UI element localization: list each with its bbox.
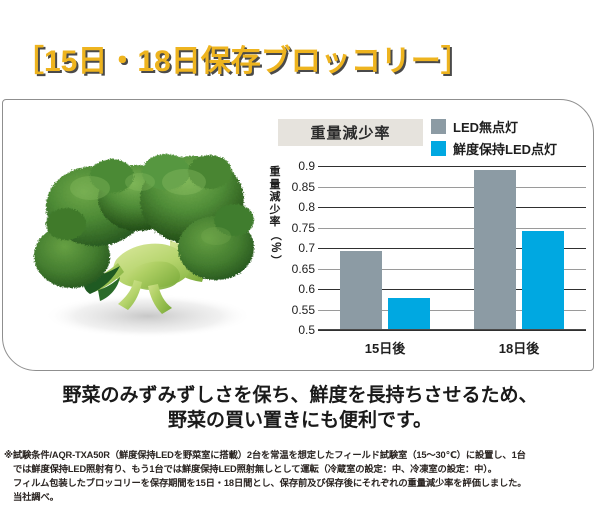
y-tick-label: 0.7 (298, 241, 315, 255)
chart-title: 重量減少率 (278, 119, 423, 146)
y-axis-title-char: 率 (268, 216, 282, 229)
bar-LED無点灯-15日後 (340, 251, 382, 329)
x-axis-labels: 15日後18日後 (318, 332, 586, 356)
tagline-line-2: 野菜の買い置きにも便利です。 (0, 408, 600, 433)
plot-area (318, 166, 586, 330)
y-tick-label: 0.8 (298, 200, 315, 214)
y-tick-label: 0.9 (298, 159, 315, 173)
footnote-line-3: フィルム包装したブロッコリーを保存期間を15日・18日間とし、保存前及び保存後に… (4, 476, 598, 490)
footnote: ※試験条件/AQR-TXA50R（鮮度保持LEDを野菜室に搭載）2台を常温を想定… (4, 448, 598, 504)
footnote-line-4: 当社調べ。 (4, 490, 598, 504)
y-tick-label: 0.75 (292, 221, 315, 235)
plot-block: 重量減少率（％） 0.90.850.80.750.70.650.60.550.5… (268, 166, 590, 362)
y-tick-label: 0.65 (292, 262, 315, 276)
y-axis-ticks: 0.90.850.80.750.70.650.60.550.5 (282, 166, 318, 330)
x-tick-label: 18日後 (499, 338, 539, 357)
chart-container: 重量減少率 LED無点灯 鮮度保持LED点灯 重量減少率（％） 0.90.850… (268, 112, 590, 362)
y-axis-title-char: 少 (268, 204, 282, 217)
tagline-line-1: 野菜のみずみずしさを保ち、鮮度を長持ちさせるため、 (0, 383, 600, 408)
bar-鮮度保持LED点灯-18日後 (522, 231, 564, 329)
footnote-line-1: ※試験条件/AQR-TXA50R（鮮度保持LEDを野菜室に搭載）2台を常温を想定… (4, 448, 598, 462)
legend-label-led-off: LED無点灯 (453, 117, 518, 136)
y-axis-title-char: 減 (268, 191, 282, 204)
y-tick-label: 0.5 (298, 323, 315, 337)
chart-header: 重量減少率 LED無点灯 鮮度保持LED点灯 (268, 112, 590, 162)
page-title: ［15日・18日保存ブロッコリー］ (14, 47, 471, 77)
y-axis-title-char: ） (269, 253, 282, 267)
x-tick-label: 15日後 (365, 338, 405, 357)
y-axis-title-char: ％ (269, 240, 282, 254)
bar-鮮度保持LED点灯-15日後 (388, 298, 430, 329)
y-tick-label: 0.85 (292, 180, 315, 194)
legend-item-led-on: 鮮度保持LED点灯 (431, 138, 557, 158)
y-tick-label: 0.55 (292, 303, 315, 317)
legend-swatch-led-off (431, 119, 446, 134)
broccoli-image (20, 120, 270, 355)
tagline: 野菜のみずみずしさを保ち、鮮度を長持ちさせるため、 野菜の買い置きにも便利です。 (0, 383, 600, 433)
chart-legend: LED無点灯 鮮度保持LED点灯 (431, 116, 557, 160)
gridline (318, 330, 586, 331)
legend-swatch-led-on (431, 141, 446, 156)
x-axis-line (318, 329, 586, 330)
y-axis-title-char: 量 (268, 179, 282, 192)
y-axis-title: 重量減少率（％） (268, 166, 282, 266)
legend-item-led-off: LED無点灯 (431, 116, 557, 136)
legend-label-led-on: 鮮度保持LED点灯 (453, 139, 557, 158)
bar-LED無点灯-18日後 (474, 170, 516, 329)
footnote-line-2: では鮮度保持LED照射有り、もう1台では鮮度保持LED照射無しとして運転（冷蔵室… (4, 462, 598, 476)
y-axis-title-char: 重 (268, 166, 282, 179)
bar-group (318, 166, 586, 330)
y-tick-label: 0.6 (298, 282, 315, 296)
chart-title-text: 重量減少率 (310, 122, 390, 143)
